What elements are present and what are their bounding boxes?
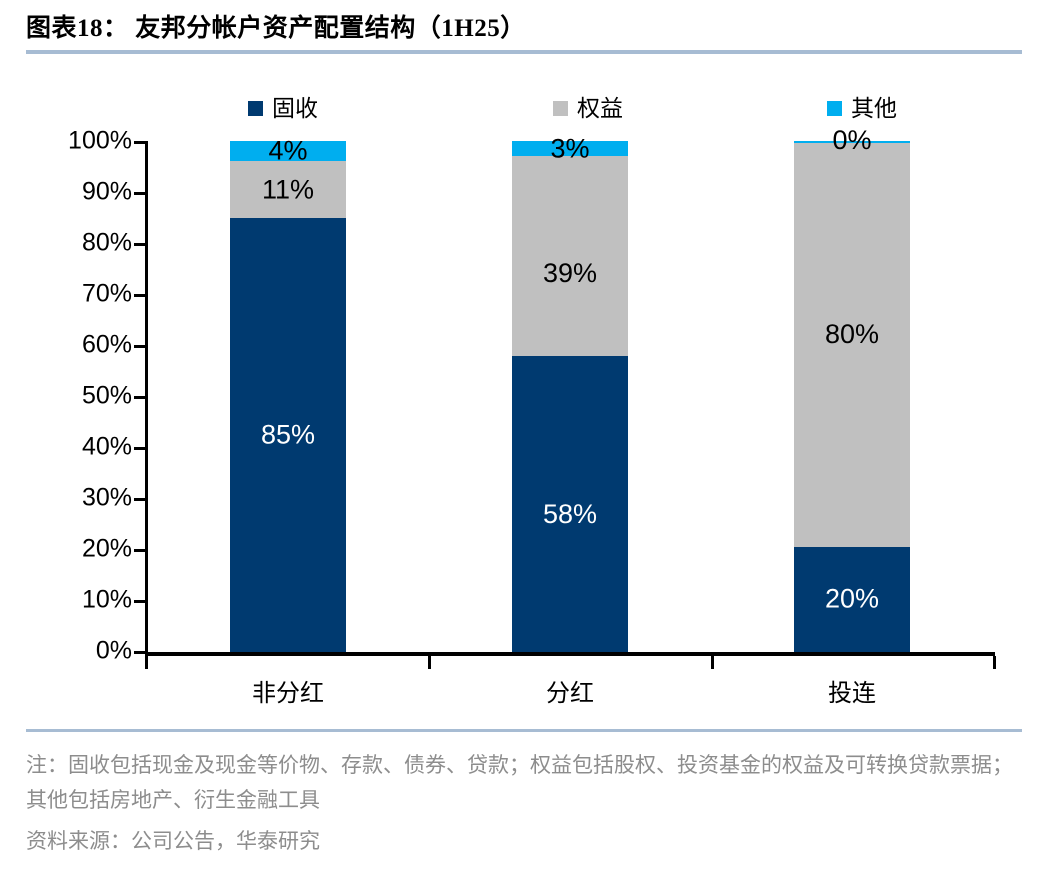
- y-axis-tick-label: 80%: [82, 231, 132, 256]
- bar-segment-fixed-income[interactable]: 85%: [230, 218, 346, 652]
- y-axis-tick: [134, 447, 145, 450]
- y-axis-tick: [134, 651, 145, 654]
- footnote-source: 资料来源：公司公告，华泰研究: [26, 824, 1026, 859]
- chart-legend: 固收 权益 其他: [145, 93, 995, 127]
- x-axis-label-unit-linked: 投连: [828, 679, 876, 709]
- y-axis-tick-label: 90%: [82, 180, 132, 205]
- y-axis-tick: [134, 600, 145, 603]
- y-axis-tick: [134, 192, 145, 195]
- y-axis-tick-label: 70%: [82, 282, 132, 307]
- legend-swatch-fixed-income-icon: [248, 101, 263, 116]
- footer-divider: [26, 729, 1022, 732]
- y-axis-tick-label: 60%: [82, 333, 132, 358]
- bar-segment-equity[interactable]: 80%: [794, 143, 910, 547]
- legend-swatch-equity-icon: [553, 101, 568, 116]
- x-axis-tick: [428, 656, 431, 669]
- bar-segment-label-fixed-income: 85%: [230, 421, 346, 448]
- y-axis-labels: 100% 90% 80% 70% 60% 50% 40% 30% 20% 10%…: [12, 141, 132, 652]
- chart-plot-area: 100% 90% 80% 70% 60% 50% 40% 30% 20% 10%…: [145, 141, 995, 652]
- bar-segment-other[interactable]: 4%: [230, 141, 346, 161]
- y-axis-tick-label: 0%: [96, 639, 132, 664]
- bar-segment-label-other: 4%: [230, 138, 346, 165]
- bar-segment-equity[interactable]: 11%: [230, 161, 346, 217]
- bar-segment-label-equity: 80%: [794, 321, 910, 348]
- y-axis-tick-label: 100%: [68, 129, 132, 154]
- page-title: 图表18： 友邦分帐户资产配置结构（1H25）: [26, 10, 1022, 48]
- legend-item-equity: 权益: [553, 93, 623, 123]
- chart-footnotes: 注：固收包括现金及现金等价物、存款、债券、贷款；权益包括股权、投资基金的权益及可…: [26, 748, 1026, 859]
- y-axis-tick: [134, 396, 145, 399]
- bar-segment-label-fixed-income: 20%: [794, 586, 910, 613]
- bar-segment-label-equity: 39%: [512, 260, 628, 287]
- header-divider: [26, 50, 1022, 54]
- x-axis-label-par: 分红: [546, 679, 594, 709]
- legend-item-other: 其他: [827, 93, 897, 123]
- bar-segment-label-fixed-income: 58%: [512, 501, 628, 528]
- y-axis-tick: [134, 498, 145, 501]
- y-axis-line: [145, 141, 148, 652]
- y-axis-tick-label: 30%: [82, 486, 132, 511]
- bar-segment-equity[interactable]: 39%: [512, 156, 628, 355]
- y-axis-tick: [134, 243, 145, 246]
- bar-segment-other[interactable]: 3%: [512, 141, 628, 156]
- y-axis-tick: [134, 294, 145, 297]
- legend-label-fixed-income: 固收: [272, 97, 318, 120]
- y-axis-tick-label: 40%: [82, 435, 132, 460]
- x-axis-tick: [993, 656, 996, 669]
- legend-item-fixed-income: 固收: [248, 93, 318, 123]
- x-axis-tick: [711, 656, 714, 669]
- bar-segment-label-equity: 11%: [230, 176, 346, 203]
- legend-swatch-other-icon: [827, 101, 842, 116]
- footnote-note: 注：固收包括现金及现金等价物、存款、债券、贷款；权益包括股权、投资基金的权益及可…: [26, 748, 1026, 818]
- bar-segment-label-other: 3%: [512, 135, 628, 162]
- bar-segment-fixed-income[interactable]: 20%: [794, 547, 910, 652]
- x-axis-line: [145, 652, 995, 656]
- y-axis-tick-label: 10%: [82, 588, 132, 613]
- y-axis-tick-label: 20%: [82, 537, 132, 562]
- y-axis-tick-label: 50%: [82, 384, 132, 409]
- y-axis-tick: [134, 141, 145, 144]
- bar-group-par[interactable]: 58% 39% 3%: [512, 141, 628, 652]
- bar-segment-label-other: 0%: [794, 127, 910, 154]
- x-axis-tick: [145, 656, 148, 669]
- bar-segment-fixed-income[interactable]: 58%: [512, 356, 628, 652]
- y-axis-tick: [134, 345, 145, 348]
- bar-segment-other[interactable]: 0%: [794, 141, 910, 143]
- legend-label-equity: 权益: [577, 97, 623, 120]
- x-axis-label-non-par: 非分红: [252, 679, 324, 709]
- bar-group-non-par[interactable]: 85% 11% 4%: [230, 141, 346, 652]
- bar-group-unit-linked[interactable]: 20% 80% 0%: [794, 141, 910, 652]
- legend-label-other: 其他: [851, 97, 897, 120]
- y-axis-tick: [134, 549, 145, 552]
